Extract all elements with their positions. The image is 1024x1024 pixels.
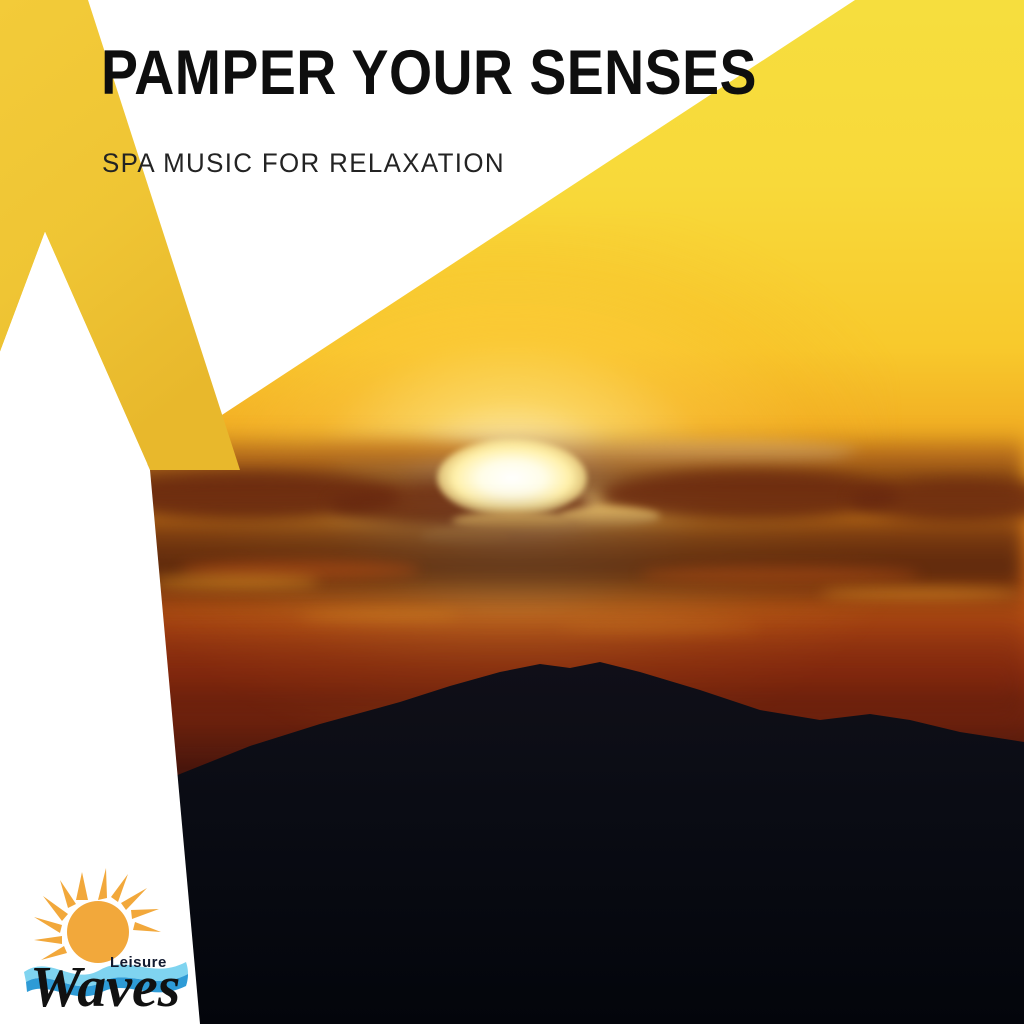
- album-cover: PAMPER YOUR SENSES SPA MUSIC FOR RELAXAT…: [0, 0, 1024, 1024]
- text-block: PAMPER YOUR SENSES SPA MUSIC FOR RELAXAT…: [101, 42, 741, 179]
- album-title: PAMPER YOUR SENSES: [101, 42, 664, 105]
- album-subtitle: SPA MUSIC FOR RELAXATION: [102, 148, 715, 179]
- leisure-waves-logo[interactable]: Leisure Waves: [14, 862, 204, 1014]
- logo-waves-text: Waves: [30, 954, 180, 1019]
